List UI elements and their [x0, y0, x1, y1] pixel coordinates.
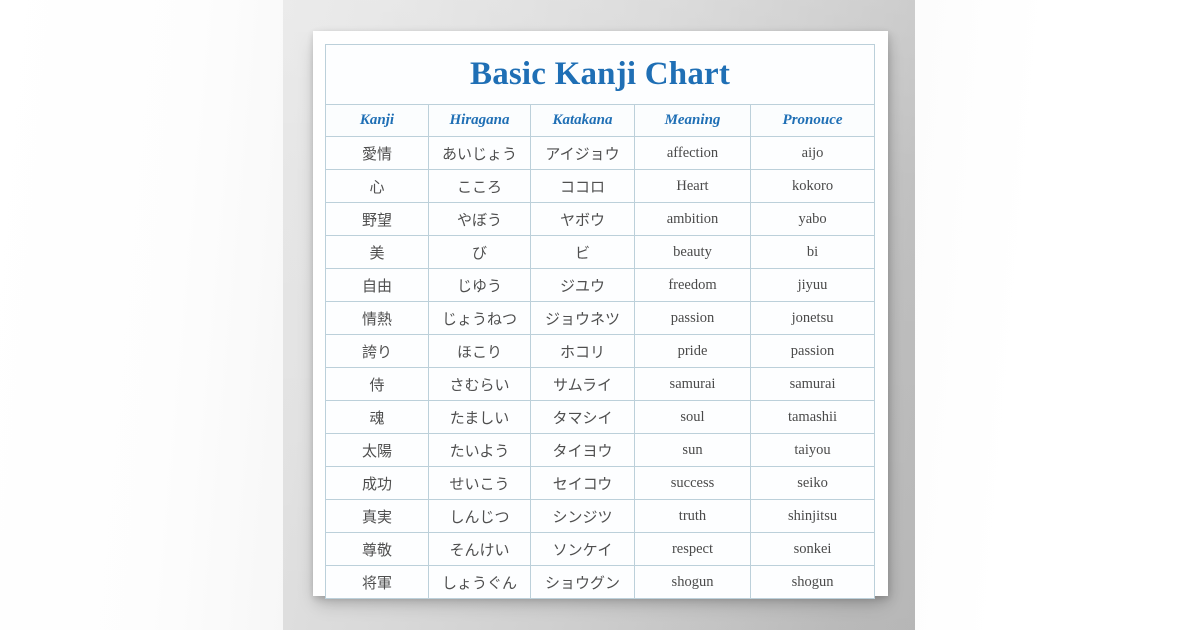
- table-cell: 情熱: [326, 302, 429, 335]
- table-cell: Heart: [635, 170, 751, 203]
- table-cell: び: [429, 236, 531, 269]
- table-cell: respect: [635, 533, 751, 566]
- chart-column-head: Kanji Hiragana Katakana Meaning Pronouce: [326, 105, 875, 137]
- table-cell: タマシイ: [531, 401, 635, 434]
- table-cell: 尊敬: [326, 533, 429, 566]
- table-cell: yabo: [751, 203, 875, 236]
- column-header-meaning: Meaning: [635, 105, 751, 137]
- table-cell: 将軍: [326, 566, 429, 599]
- poster-scene: Basic Kanji Chart Kanji Hiragana Katakan…: [0, 0, 1200, 630]
- table-cell: ほこり: [429, 335, 531, 368]
- column-header-hiragana: Hiragana: [429, 105, 531, 137]
- table-cell: samurai: [635, 368, 751, 401]
- table-cell: セイコウ: [531, 467, 635, 500]
- table-cell: ジョウネツ: [531, 302, 635, 335]
- table-row: 心こころココロHeartkokoro: [326, 170, 875, 203]
- table-cell: sonkei: [751, 533, 875, 566]
- table-cell: shinjitsu: [751, 500, 875, 533]
- table-cell: ビ: [531, 236, 635, 269]
- table-cell: jonetsu: [751, 302, 875, 335]
- table-cell: じゆう: [429, 269, 531, 302]
- chart-title-head: Basic Kanji Chart: [326, 45, 875, 105]
- table-cell: tamashii: [751, 401, 875, 434]
- table-cell: 愛情: [326, 137, 429, 170]
- table-row: 情熱じょうねつジョウネツpassionjonetsu: [326, 302, 875, 335]
- table-row: 成功せいこうセイコウsuccessseiko: [326, 467, 875, 500]
- table-row: 愛情あいじょうアイジョウaffectionaijo: [326, 137, 875, 170]
- page-bleed-right: [914, 0, 1200, 630]
- table-cell: samurai: [751, 368, 875, 401]
- table-cell: 魂: [326, 401, 429, 434]
- column-header-katakana: Katakana: [531, 105, 635, 137]
- table-cell: bi: [751, 236, 875, 269]
- table-cell: jiyuu: [751, 269, 875, 302]
- table-cell: affection: [635, 137, 751, 170]
- column-header-pronounce: Pronouce: [751, 105, 875, 137]
- table-cell: こころ: [429, 170, 531, 203]
- table-cell: ambition: [635, 203, 751, 236]
- page-bleed-left: [0, 0, 284, 630]
- table-row: 美びビbeautybi: [326, 236, 875, 269]
- table-cell: シンジツ: [531, 500, 635, 533]
- table-row: 真実しんじつシンジツtruthshinjitsu: [326, 500, 875, 533]
- table-cell: pride: [635, 335, 751, 368]
- table-cell: ジユウ: [531, 269, 635, 302]
- table-cell: やぼう: [429, 203, 531, 236]
- table-cell: しょうぐん: [429, 566, 531, 599]
- table-cell: たいよう: [429, 434, 531, 467]
- table-cell: passion: [635, 302, 751, 335]
- table-cell: 美: [326, 236, 429, 269]
- column-header-row: Kanji Hiragana Katakana Meaning Pronouce: [326, 105, 875, 137]
- table-cell: 侍: [326, 368, 429, 401]
- table-cell: sun: [635, 434, 751, 467]
- chart-title-row: Basic Kanji Chart: [326, 45, 875, 105]
- table-cell: 自由: [326, 269, 429, 302]
- table-cell: 太陽: [326, 434, 429, 467]
- table-row: 野望やぼうヤボウambitionyabo: [326, 203, 875, 236]
- table-cell: アイジョウ: [531, 137, 635, 170]
- table-cell: ホコリ: [531, 335, 635, 368]
- table-row: 誇りほこりホコリpridepassion: [326, 335, 875, 368]
- poster-sheet[interactable]: Basic Kanji Chart Kanji Hiragana Katakan…: [313, 31, 888, 596]
- table-cell: freedom: [635, 269, 751, 302]
- table-row: 尊敬そんけいソンケイrespectsonkei: [326, 533, 875, 566]
- table-cell: さむらい: [429, 368, 531, 401]
- table-cell: beauty: [635, 236, 751, 269]
- chart-body: 愛情あいじょうアイジョウaffectionaijo心こころココロHeartkok…: [326, 137, 875, 599]
- table-cell: タイヨウ: [531, 434, 635, 467]
- table-cell: そんけい: [429, 533, 531, 566]
- table-cell: じょうねつ: [429, 302, 531, 335]
- table-cell: success: [635, 467, 751, 500]
- table-cell: サムライ: [531, 368, 635, 401]
- table-cell: 誇り: [326, 335, 429, 368]
- table-cell: 成功: [326, 467, 429, 500]
- table-cell: ヤボウ: [531, 203, 635, 236]
- table-cell: shogun: [751, 566, 875, 599]
- table-cell: 心: [326, 170, 429, 203]
- table-cell: せいこう: [429, 467, 531, 500]
- table-row: 侍さむらいサムライsamuraisamurai: [326, 368, 875, 401]
- table-cell: 野望: [326, 203, 429, 236]
- table-cell: 真実: [326, 500, 429, 533]
- table-cell: たましい: [429, 401, 531, 434]
- table-cell: shogun: [635, 566, 751, 599]
- kanji-chart-table: Basic Kanji Chart Kanji Hiragana Katakan…: [325, 44, 875, 599]
- table-cell: passion: [751, 335, 875, 368]
- table-cell: あいじょう: [429, 137, 531, 170]
- page-title: Basic Kanji Chart: [326, 45, 875, 105]
- table-cell: soul: [635, 401, 751, 434]
- table-cell: しんじつ: [429, 500, 531, 533]
- column-header-kanji: Kanji: [326, 105, 429, 137]
- table-row: 将軍しょうぐんショウグンshogunshogun: [326, 566, 875, 599]
- table-row: 太陽たいようタイヨウsuntaiyou: [326, 434, 875, 467]
- table-cell: kokoro: [751, 170, 875, 203]
- table-cell: seiko: [751, 467, 875, 500]
- table-cell: taiyou: [751, 434, 875, 467]
- table-cell: aijo: [751, 137, 875, 170]
- table-row: 自由じゆうジユウfreedomjiyuu: [326, 269, 875, 302]
- table-cell: ショウグン: [531, 566, 635, 599]
- table-cell: ソンケイ: [531, 533, 635, 566]
- table-row: 魂たましいタマシイsoultamashii: [326, 401, 875, 434]
- table-cell: truth: [635, 500, 751, 533]
- table-cell: ココロ: [531, 170, 635, 203]
